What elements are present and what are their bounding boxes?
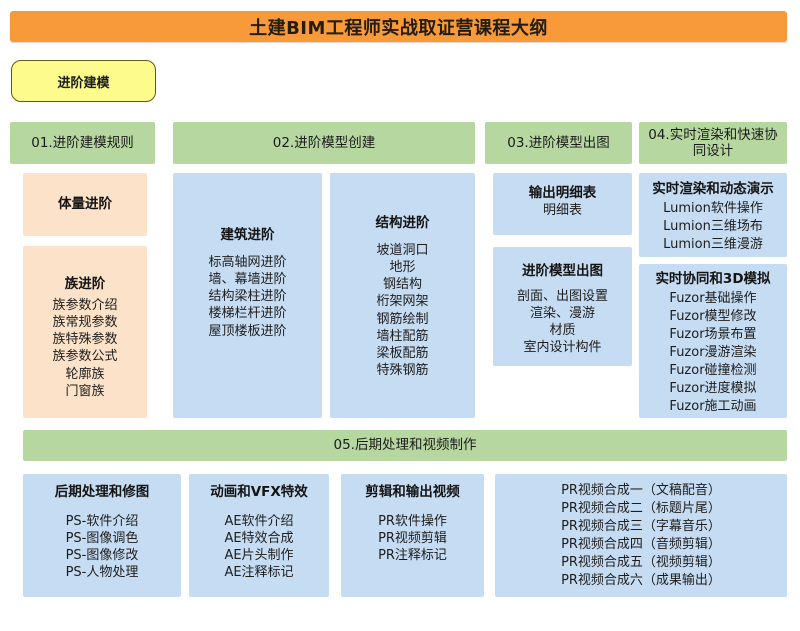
list-item: PR视频合成三（字幕音乐） <box>561 518 721 536</box>
list-item: 地形 <box>389 259 415 276</box>
card-title: 实时协同和3D模拟 <box>655 271 770 288</box>
list-item: 族参数公式 <box>52 348 117 365</box>
card-editing-output-video[interactable]: 剪辑和输出视频 PR软件操作 PR视频剪辑 PR注释标记 <box>341 474 484 597</box>
list-item: 楼梯栏杆进阶 <box>208 305 286 322</box>
card-title: 实时渲染和动态演示 <box>652 181 774 198</box>
list-item: 族参数介绍 <box>52 297 117 314</box>
list-item: Lumion三维漫游 <box>663 236 763 254</box>
section-tab-advanced-modeling[interactable]: 进阶建模 <box>11 60 156 102</box>
list-item: Fuzor基础操作 <box>669 290 756 308</box>
course-outline-diagram: 土建BIM工程师实战取证营课程大纲 进阶建模 01.进阶建模规则 02.进阶模型… <box>0 0 800 631</box>
list-item: 剖面、出图设置 <box>517 288 608 305</box>
list-item: Fuzor碰撞检测 <box>669 362 756 380</box>
column-header-02: 02.进阶模型创建 <box>173 122 475 164</box>
card-architecture-advanced[interactable]: 建筑进阶 标高轴网进阶 墙、幕墙进阶 结构梁柱进阶 楼梯栏杆进阶 屋顶楼板进阶 <box>173 173 322 418</box>
list-item: AE片头制作 <box>224 547 293 564</box>
list-item: PR视频合成五（视频剪辑） <box>561 554 721 572</box>
card-family-advanced[interactable]: 族进阶 族参数介绍 族常规参数 族特殊参数 族参数公式 轮廓族 门窗族 <box>23 246 147 418</box>
list-item: PR视频剪辑 <box>378 530 447 547</box>
list-item: 钢结构 <box>383 276 422 293</box>
list-item: 明细表 <box>543 202 582 219</box>
list-item: 结构梁柱进阶 <box>208 288 286 305</box>
card-pr-video-composites[interactable]: PR视频合成一（文稿配音） PR视频合成二（标题片尾） PR视频合成三（字幕音乐… <box>495 474 787 597</box>
list-item: 墙、幕墙进阶 <box>208 271 286 288</box>
card-realtime-render[interactable]: 实时渲染和动态演示 Lumion软件操作 Lumion三维场布 Lumion三维… <box>639 173 787 257</box>
section-tab-label: 进阶建模 <box>57 72 109 91</box>
card-schedule-output[interactable]: 输出明细表 明细表 <box>493 173 632 235</box>
list-item: 轮廓族 <box>65 366 104 383</box>
list-item: 室内设计构件 <box>523 339 601 356</box>
list-item: Fuzor进度模拟 <box>669 380 756 398</box>
card-post-processing-retouch[interactable]: 后期处理和修图 PS-软件介绍 PS-图像调色 PS-图像修改 PS-人物处理 <box>23 474 181 597</box>
card-realtime-collab-3d[interactable]: 实时协同和3D模拟 Fuzor基础操作 Fuzor模型修改 Fuzor场景布置 … <box>639 264 787 418</box>
card-structure-advanced[interactable]: 结构进阶 坡道洞口 地形 钢结构 桁架网架 钢筋绘制 墙柱配筋 梁板配筋 特殊钢… <box>330 173 475 418</box>
list-item: 屋顶楼板进阶 <box>208 323 286 340</box>
list-item: Fuzor场景布置 <box>669 326 756 344</box>
list-item: PR视频合成四（音频剪辑） <box>561 536 721 554</box>
list-item: 钢筋绘制 <box>376 311 428 328</box>
list-item: Fuzor施工动画 <box>669 398 756 416</box>
list-item: 桁架网架 <box>376 293 428 310</box>
list-item: AE注释标记 <box>224 564 293 581</box>
list-item: 坡道洞口 <box>376 242 428 259</box>
list-item: PS-图像调色 <box>66 530 139 547</box>
list-item: 族特殊参数 <box>52 331 117 348</box>
card-title: 后期处理和修图 <box>55 484 150 501</box>
list-item: 族常规参数 <box>52 314 117 331</box>
page-title: 土建BIM工程师实战取证营课程大纲 <box>249 14 548 40</box>
list-item: 墙柱配筋 <box>376 328 428 345</box>
list-item: PR注释标记 <box>378 547 447 564</box>
list-item: 渲染、漫游 <box>530 305 595 322</box>
card-title: 剪辑和输出视频 <box>365 484 460 501</box>
card-title: 结构进阶 <box>376 215 430 232</box>
list-item: PS-图像修改 <box>66 547 139 564</box>
card-title: 进阶模型出图 <box>522 263 603 280</box>
card-advanced-model-drawing[interactable]: 进阶模型出图 剖面、出图设置 渲染、漫游 材质 室内设计构件 <box>493 247 632 366</box>
list-item: PR视频合成一（文稿配音） <box>561 482 721 500</box>
card-title: 输出明细表 <box>529 185 597 202</box>
column-header-01: 01.进阶建模规则 <box>10 122 155 164</box>
list-item: 梁板配筋 <box>376 345 428 362</box>
column-header-02-label: 02.进阶模型创建 <box>273 135 375 151</box>
list-item: Fuzor模型修改 <box>669 308 756 326</box>
list-item: Fuzor漫游渲染 <box>669 344 756 362</box>
list-item: AE特效合成 <box>224 530 293 547</box>
list-item: PR视频合成六（成果输出） <box>561 572 721 590</box>
column-header-01-label: 01.进阶建模规则 <box>31 135 133 151</box>
list-item: 标高轴网进阶 <box>208 254 286 271</box>
list-item: PS-软件介绍 <box>66 513 139 530</box>
card-title: 体量进阶 <box>58 196 112 213</box>
column-header-05-label: 05.后期处理和视频制作 <box>334 437 477 453</box>
card-massing-advanced[interactable]: 体量进阶 <box>23 173 147 236</box>
column-header-03: 03.进阶模型出图 <box>485 122 632 164</box>
page-title-bar: 土建BIM工程师实战取证营课程大纲 <box>10 11 787 42</box>
list-item: PR软件操作 <box>378 513 447 530</box>
list-item: 门窗族 <box>65 383 104 400</box>
card-title: 建筑进阶 <box>221 227 275 244</box>
column-header-05: 05.后期处理和视频制作 <box>23 430 787 461</box>
column-header-04-label: 04.实时渲染和快速协同设计 <box>643 127 783 160</box>
column-header-03-label: 03.进阶模型出图 <box>507 135 609 151</box>
card-title: 动画和VFX特效 <box>210 484 308 501</box>
card-title: 族进阶 <box>65 276 106 293</box>
card-animation-vfx[interactable]: 动画和VFX特效 AE软件介绍 AE特效合成 AE片头制作 AE注释标记 <box>189 474 329 597</box>
column-header-04: 04.实时渲染和快速协同设计 <box>639 122 787 164</box>
list-item: PS-人物处理 <box>66 564 139 581</box>
list-item: PR视频合成二（标题片尾） <box>561 500 721 518</box>
list-item: Lumion软件操作 <box>663 200 763 218</box>
list-item: Lumion三维场布 <box>663 218 763 236</box>
list-item: 特殊钢筋 <box>376 362 428 379</box>
list-item: AE软件介绍 <box>224 513 293 530</box>
list-item: 材质 <box>549 322 575 339</box>
